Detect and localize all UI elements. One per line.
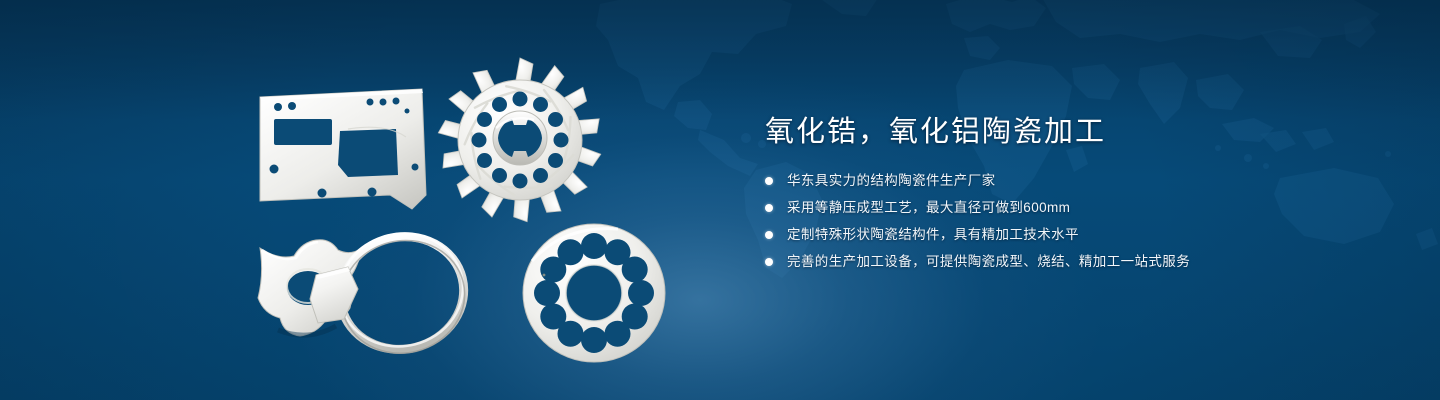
product-perforated-disc bbox=[523, 224, 665, 362]
bullet-dot-icon bbox=[765, 177, 773, 185]
list-item: 完善的生产加工设备，可提供陶瓷成型、烧结、精加工一站式服务 bbox=[765, 251, 1385, 273]
bullet-dot-icon bbox=[765, 231, 773, 239]
bullet-dot-icon bbox=[765, 258, 773, 266]
list-item-label: 华东具实力的结构陶瓷件生产厂家 bbox=[787, 173, 996, 188]
list-item-label: 采用等静压成型工艺，最大直径可做到600mm bbox=[787, 200, 1070, 215]
list-item-label: 定制特殊形状陶瓷结构件，具有精加工技术水平 bbox=[787, 227, 1079, 242]
page-title: 氧化锆，氧化铝陶瓷加工 bbox=[765, 112, 1385, 152]
background-top-shade bbox=[0, 0, 1440, 120]
hero-banner: 氧化锆，氧化铝陶瓷加工 华东具实力的结构陶瓷件生产厂家 采用等静压成型工艺，最大… bbox=[0, 0, 1440, 400]
list-item: 定制特殊形状陶瓷结构件，具有精加工技术水平 bbox=[765, 224, 1385, 246]
product-flat-machined-plate bbox=[260, 89, 426, 209]
list-item: 华东具实力的结构陶瓷件生产厂家 bbox=[765, 170, 1385, 192]
product-photo-group bbox=[230, 45, 700, 385]
list-item: 采用等静压成型工艺，最大直径可做到600mm bbox=[765, 197, 1385, 219]
banner-text-block: 氧化锆，氧化铝陶瓷加工 华东具实力的结构陶瓷件生产厂家 采用等静压成型工艺，最大… bbox=[765, 112, 1385, 278]
product-vaned-impeller-disc bbox=[438, 58, 603, 223]
feature-list: 华东具实力的结构陶瓷件生产厂家 采用等静压成型工艺，最大直径可做到600mm 定… bbox=[765, 170, 1385, 273]
list-item-label: 完善的生产加工设备，可提供陶瓷成型、烧结、精加工一站式服务 bbox=[787, 254, 1190, 269]
bullet-dot-icon bbox=[765, 204, 773, 212]
product-thin-ring bbox=[310, 221, 477, 366]
